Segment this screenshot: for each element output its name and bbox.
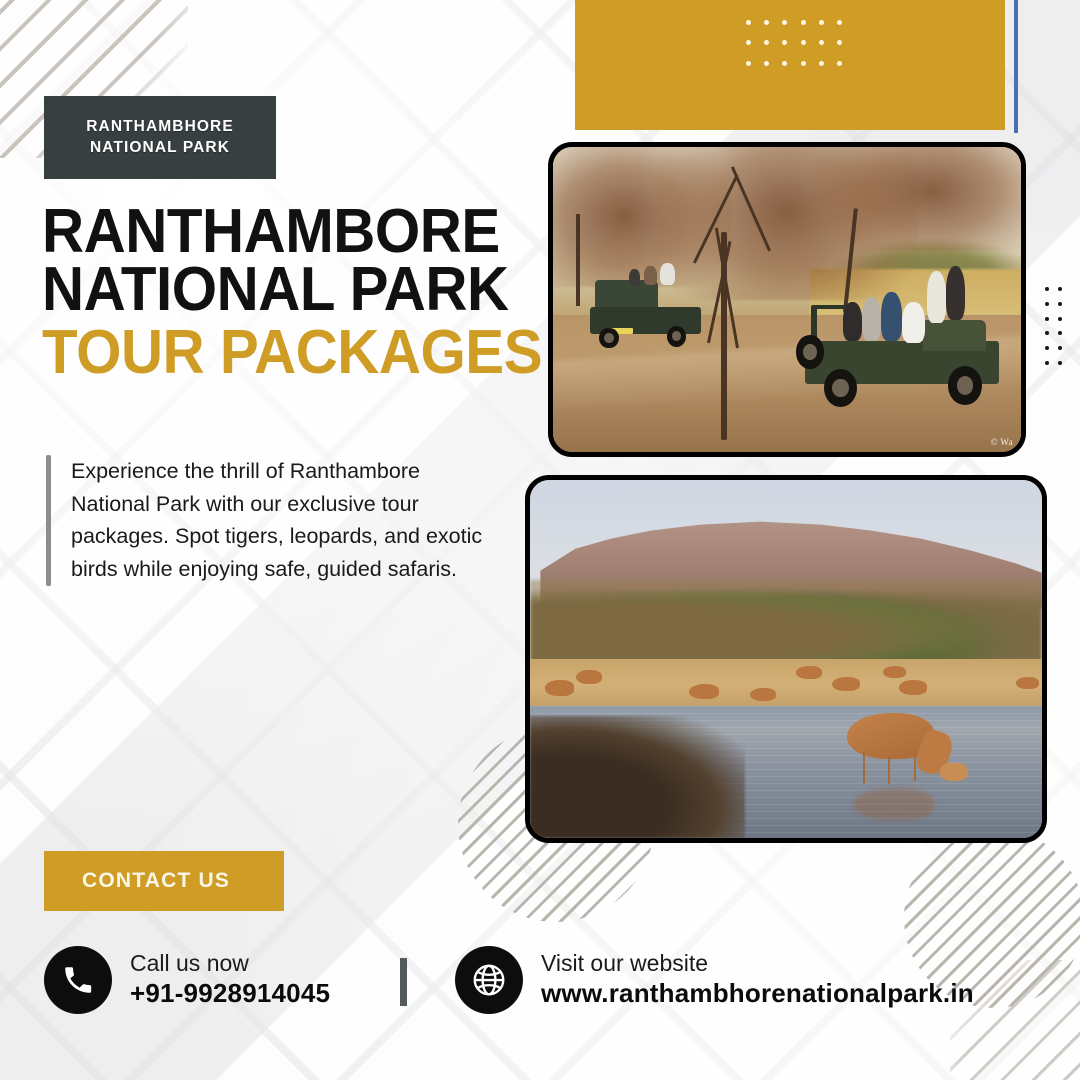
footer-contact-bar: Call us now +91-9928914045 Visit our web… — [0, 938, 1080, 1048]
headline-line-1: RANTHAMBORE — [42, 203, 484, 261]
footer-phone-block[interactable]: Call us now +91-9928914045 — [44, 946, 330, 1014]
photo-watermark: © Wa — [991, 437, 1013, 447]
safari-tree-trunk-far-left — [576, 214, 580, 306]
waterhole-foreground-deer-reflection — [853, 788, 935, 820]
waterhole-deer-7 — [899, 680, 927, 694]
jeep-left-passenger-1 — [629, 269, 640, 286]
waterhole-deer-2 — [576, 670, 602, 684]
right-side-dot-grid — [1040, 282, 1066, 370]
jeep-right-passenger-1 — [843, 302, 862, 340]
blue-accent-line — [1014, 0, 1018, 133]
waterhole-deer-1 — [545, 680, 573, 695]
safari-jeep-left — [590, 269, 702, 348]
intro-paragraph: Experience the thrill of Ranthambore Nat… — [71, 455, 496, 586]
jeep-right-wheel-rear — [948, 366, 982, 404]
logo-line-1: RANTHAMBHORE — [86, 118, 234, 136]
jeep-right-passenger-5 — [927, 271, 946, 322]
jeep-right-passenger-6 — [946, 266, 965, 320]
jeep-left-passenger-3 — [660, 263, 675, 285]
footer-website-text: Visit our website www.ranthambhorenation… — [541, 950, 974, 1010]
waterhole-deer-8 — [883, 666, 906, 678]
footer-phone-text: Call us now +91-9928914045 — [130, 950, 330, 1010]
jeep-right-passenger-3 — [881, 292, 902, 341]
page-title: RANTHAMBORE NATIONAL PARK TOUR PACKAGES — [42, 203, 512, 382]
footer-website-label: Visit our website — [541, 950, 974, 977]
safari-jeep-right — [796, 284, 1007, 412]
waterhole-deer-6 — [796, 666, 822, 679]
footer-phone-number: +91-9928914045 — [130, 977, 330, 1010]
jeep-left-passenger-2 — [644, 266, 656, 285]
intro-block: Experience the thrill of Ranthambore Nat… — [46, 455, 496, 586]
waterhole-muddy-shore — [530, 716, 745, 838]
footer-divider — [400, 958, 407, 1006]
footer-phone-label: Call us now — [130, 950, 330, 977]
jeep-right-cab — [923, 320, 986, 351]
poster-canvas: © Wa RANTHAMBHORE NATIONAL PARK RANTHAM — [0, 0, 1080, 1080]
jeep-right-passenger-4 — [902, 302, 925, 343]
waterhole-foreground-deer-head — [940, 763, 968, 781]
waterhole-foreground-deer-leg-2 — [888, 756, 890, 785]
waterhole-foreground-deer-leg-3 — [914, 756, 916, 781]
gold-panel-dot-grid — [739, 12, 849, 74]
contact-us-button[interactable]: CONTACT US — [44, 851, 284, 911]
safari-canopy-right — [815, 142, 1026, 251]
logo-line-2: NATIONAL PARK — [90, 139, 230, 157]
waterhole-deer-5 — [832, 677, 860, 691]
waterhole-deer-3 — [689, 684, 720, 699]
waterhole-deer-4 — [750, 688, 776, 702]
waterhole-deer-9 — [1016, 677, 1039, 689]
headline-line-2: NATIONAL PARK — [42, 261, 484, 319]
waterhole-foreground-deer-leg-1 — [863, 752, 865, 784]
globe-icon — [455, 946, 523, 1014]
photo-waterhole-deer — [525, 475, 1047, 843]
footer-website-url: www.ranthambhorenationalpark.in — [541, 977, 974, 1010]
headline-line-3: TOUR PACKAGES — [42, 324, 484, 382]
phone-icon — [44, 946, 112, 1014]
photo-safari-jeeps: © Wa — [548, 142, 1026, 457]
jeep-right-spare-tyre — [796, 335, 823, 368]
jeep-right-wheel-front — [824, 369, 858, 407]
jeep-left-wheel-rear — [667, 326, 686, 347]
footer-website-block[interactable]: Visit our website www.ranthambhorenation… — [455, 946, 974, 1014]
brand-logo-box: RANTHAMBHORE NATIONAL PARK — [44, 96, 276, 179]
jeep-right-passenger-2 — [862, 297, 881, 341]
jeep-left-wheel-front — [599, 328, 618, 349]
intro-accent-bar — [46, 455, 51, 586]
